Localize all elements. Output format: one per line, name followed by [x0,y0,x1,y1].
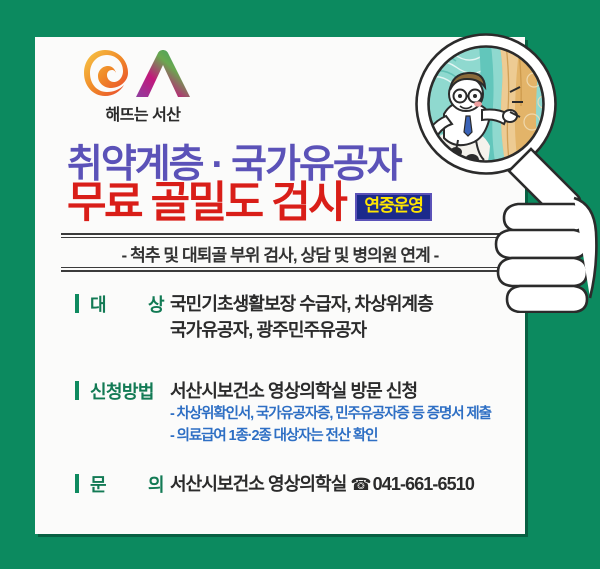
info-content-target: 국민기초생활보장 수급자, 차상위계층 국가유공자, 광주민주유공자 [170,291,433,343]
info-content-apply: 서산시보건소 영상의학실 방문 신청 - 차상위확인서, 국가유공자증, 민주유… [170,378,491,448]
poster-root: 해뜨는 서산 취약계층 · 국가유공자 무료 골밀도 검사 연중운영 - 척추 … [0,0,600,569]
info-row-target: 대 상 국민기초생활보장 수급자, 차상위계층 국가유공자, 광주민주유공자 [75,291,433,343]
seosan-city-logo-icon [84,47,202,99]
info-label-target-char-2: 상 [148,291,164,317]
info-content-contact: 서산시보건소 영상의학실☎041-661-6510 [170,471,474,498]
info-label-target: 대 상 [90,291,170,317]
info-row-apply: 신청방법 서산시보건소 영상의학실 방문 신청 - 차상위확인서, 국가유공자증… [75,378,491,448]
page-title-sub-row: 무료 골밀도 검사 연중운영 [67,182,432,225]
phone-icon: ☎ [350,475,370,494]
page-title-sub: 무료 골밀도 검사 [67,182,345,225]
info-content-apply-subline-1: - 차상위확인서, 국가유공자증, 민주유공자증 등 증명서 제출 [170,404,491,426]
logo-block: 해뜨는 서산 [73,47,213,125]
status-badge: 연중운영 [355,193,432,221]
info-label-apply: 신청방법 [90,378,170,404]
info-content-contact-office: 서산시보건소 영상의학실 [170,474,346,494]
row-marker-bar [75,294,79,313]
logo-text: 해뜨는 서산 [73,101,213,125]
info-content-target-line-1: 국민기초생활보장 수급자, 차상위계층 [170,291,433,317]
page-subtitle: - 척추 및 대퇴골 부위 검사, 상담 및 병의원 연계 - [61,241,499,266]
info-row-contact: 문 의 서산시보건소 영상의학실☎041-661-6510 [75,471,474,498]
row-marker-bar [75,474,79,493]
info-content-apply-line-1: 서산시보건소 영상의학실 방문 신청 [170,378,491,404]
info-content-apply-subline-2: - 의료급여 1종·2종 대상자는 전산 확인 [170,426,491,448]
info-label-target-char-1: 대 [90,291,106,317]
info-content-target-line-2: 국가유공자, 광주민주유공자 [170,317,433,343]
info-label-contact-char-1: 문 [90,471,106,497]
info-label-contact-char-2: 의 [148,471,164,497]
divider-bottom [61,267,499,272]
divider-top [61,233,499,238]
info-label-contact: 문 의 [90,471,170,497]
contact-phone-number: 041-661-6510 [373,474,474,494]
poster-card: 해뜨는 서산 취약계층 · 국가유공자 무료 골밀도 검사 연중운영 - 척추 … [35,37,525,534]
row-marker-bar [75,381,79,400]
